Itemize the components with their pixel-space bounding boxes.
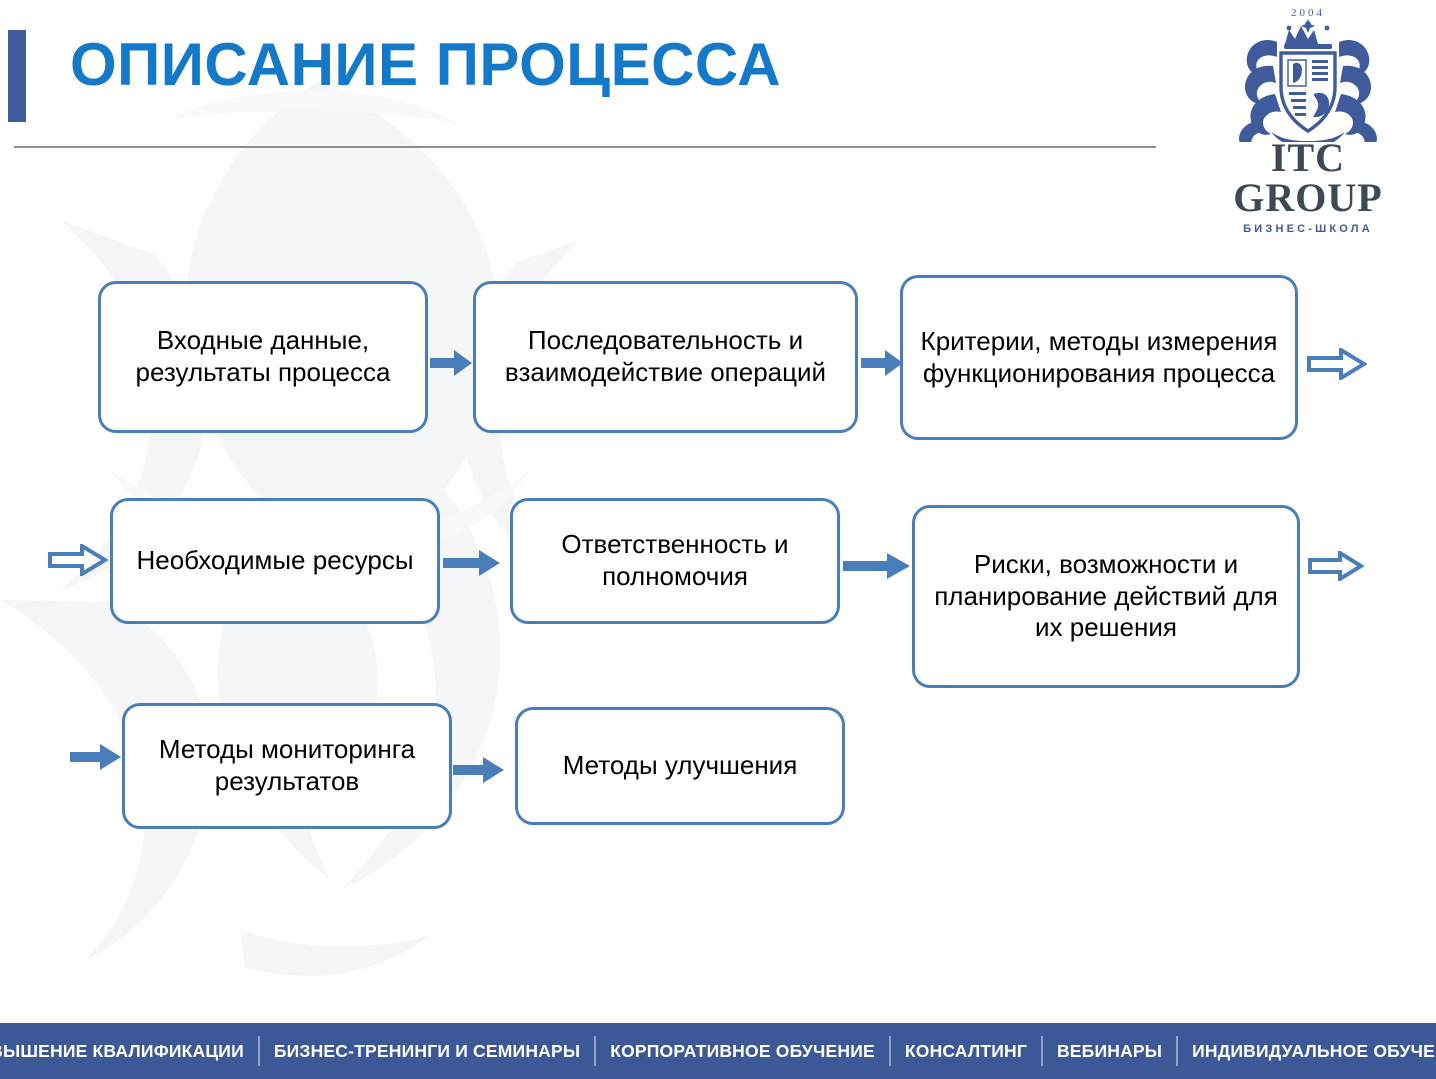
flow-node-responsibility[interactable]: Ответственность и полномочия: [510, 498, 840, 624]
flow-node-improvement[interactable]: Методы улучшения: [515, 707, 845, 825]
flow-node-label: Ответственность и полномочия: [527, 529, 823, 592]
flow-node-criteria[interactable]: Критерии, методы измерения функционирова…: [900, 275, 1298, 440]
footer-item-individual[interactable]: ИНДИВИДУАЛЬНОЕ ОБУЧЕНИЕ: [1178, 1041, 1436, 1062]
flow-arrow-solid-r2-b: [843, 551, 911, 581]
flow-node-label: Критерии, методы измерения функционирова…: [917, 326, 1281, 389]
flow-arrow-solid-r3-a: [453, 755, 505, 785]
footer-bar: ПОВЫШЕНИЕ КВАЛИФИКАЦИИ БИЗНЕС-ТРЕНИНГИ И…: [0, 1023, 1436, 1079]
flow-arrow-solid-r1-a: [430, 348, 474, 378]
flow-arrow-hollow-r2-start: [48, 544, 108, 576]
flow-arrow-hollow-r2-end: [1308, 551, 1364, 581]
flow-node-resources[interactable]: Необходимые ресурсы: [110, 498, 440, 624]
flow-node-risks[interactable]: Риски, возможности и планирование действ…: [912, 505, 1300, 688]
footer-item-corporate[interactable]: КОРПОРАТИВНОЕ ОБУЧЕНИЕ: [596, 1041, 889, 1062]
process-flow-diagram: Входные данные, результаты процесса Посл…: [0, 0, 1436, 1079]
footer-item-webinars[interactable]: ВЕБИНАРЫ: [1043, 1041, 1176, 1062]
flow-arrow-solid-r3-start: [70, 742, 122, 772]
flow-arrow-solid-r2-a: [443, 548, 501, 578]
flow-node-label: Последовательность и взаимодействие опер…: [490, 325, 841, 388]
flow-node-monitoring[interactable]: Методы мониторинга результатов: [122, 703, 452, 829]
flow-node-label: Необходимые ресурсы: [136, 545, 413, 577]
slide-canvas: ОПИСАНИЕ ПРОЦЕССА 2004: [0, 0, 1436, 1079]
footer-item-consulting[interactable]: КОНСАЛТИНГ: [891, 1041, 1041, 1062]
footer-item-trainings[interactable]: БИЗНЕС-ТРЕНИНГИ И СЕМИНАРЫ: [260, 1041, 594, 1062]
flow-node-inputs[interactable]: Входные данные, результаты процесса: [98, 281, 428, 433]
flow-arrow-hollow-r1-end: [1307, 348, 1367, 380]
flow-node-label: Риски, возможности и планирование действ…: [929, 549, 1283, 644]
flow-arrow-solid-r1-b: [861, 348, 905, 378]
flow-node-sequence[interactable]: Последовательность и взаимодействие опер…: [473, 281, 858, 433]
flow-node-label: Входные данные, результаты процесса: [115, 325, 411, 388]
flow-node-label: Методы мониторинга результатов: [139, 734, 435, 797]
footer-item-qualification[interactable]: ПОВЫШЕНИЕ КВАЛИФИКАЦИИ: [0, 1041, 258, 1062]
flow-node-label: Методы улучшения: [563, 750, 798, 782]
